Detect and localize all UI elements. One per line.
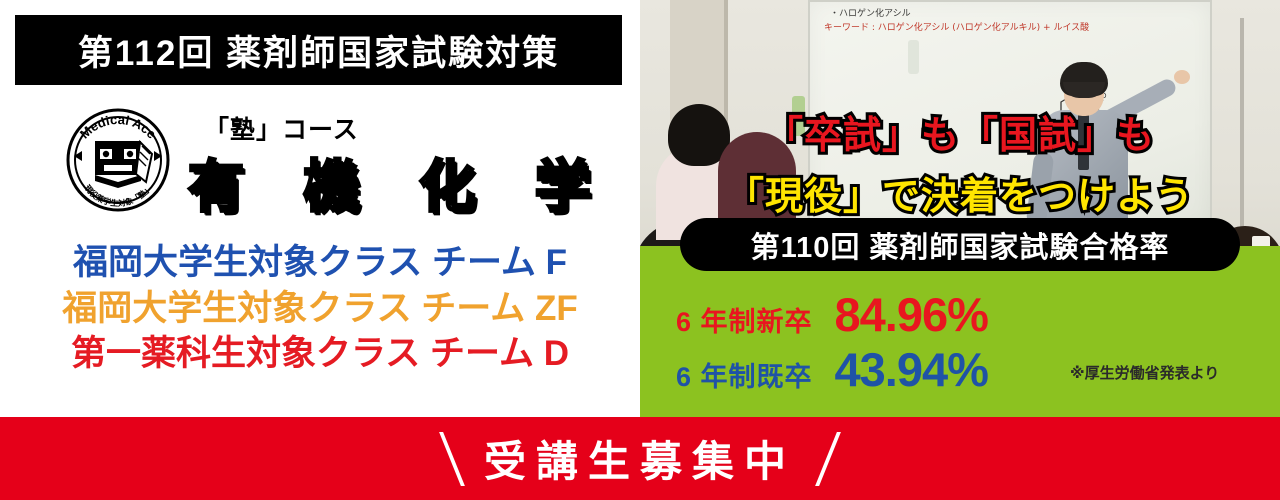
stat-value-past-graduates: 43.94% bbox=[835, 342, 988, 397]
instructor-hair bbox=[1060, 62, 1108, 96]
water-bottle-2 bbox=[908, 40, 919, 74]
source-footnote: ※厚生労働省発表より bbox=[1070, 362, 1219, 383]
class-item-team-f: 福岡大学生対象クラス チーム F bbox=[0, 240, 640, 286]
stat-value-new-graduates: 84.96% bbox=[835, 287, 988, 342]
slash-right-icon bbox=[815, 432, 841, 486]
pass-rate-title: 第110回 薬剤師国家試験合格率 bbox=[751, 224, 1170, 266]
stat-label-past-graduates: 6 年制既卒 bbox=[676, 355, 813, 394]
course-title-bar: 第112回 薬剤師国家試験対策 bbox=[15, 15, 622, 85]
stat-label-new-graduates: 6 年制新卒 bbox=[676, 300, 813, 339]
page-title: 第112回 薬剤師国家試験対策 bbox=[78, 25, 559, 76]
pass-rate-title-badge: 第110回 薬剤師国家試験合格率 bbox=[680, 218, 1240, 271]
promo-banner: 第112回 薬剤師国家試験対策 Medical Ace 現役薬学生対象「塾」 bbox=[0, 0, 1280, 500]
headline-line-1: 「卒試」も「国試」も bbox=[640, 104, 1280, 159]
whiteboard-note-top: ・ハロゲン化アシル bbox=[830, 6, 911, 19]
whiteboard-note-keyword: キーワード : ハロゲン化アシル (ハロゲン化アルキル) + ルイス酸 bbox=[824, 20, 1089, 33]
stat-row-new-graduates: 6 年制新卒 84.96% bbox=[676, 287, 988, 342]
instructor-hand bbox=[1174, 70, 1190, 84]
recruitment-text: 受講生募集中 bbox=[484, 428, 796, 489]
course-kind-label: 「塾」コース bbox=[204, 110, 359, 146]
class-list: 福岡大学生対象クラス チーム F 福岡大学生対象クラス チーム ZF 第一薬科生… bbox=[0, 240, 640, 377]
left-panel: 第112回 薬剤師国家試験対策 Medical Ace 現役薬学生対象「塾」 bbox=[0, 0, 640, 417]
recruitment-banner[interactable]: 受講生募集中 bbox=[0, 417, 1280, 500]
slash-left-icon bbox=[439, 432, 465, 486]
class-item-team-d: 第一薬科生対象クラス チーム D bbox=[0, 331, 640, 377]
headline-block: 「卒試」も「国試」も 「現役」で決着をつけよう bbox=[640, 104, 1280, 220]
svg-text:Medical Ace: Medical Ace bbox=[77, 112, 160, 142]
stat-row-past-graduates: 6 年制既卒 43.94% bbox=[676, 342, 988, 397]
medical-ace-logo: Medical Ace 現役薬学生対象「塾」 bbox=[62, 108, 174, 212]
headline-line-2: 「現役」で決着をつけよう bbox=[640, 165, 1280, 220]
course-subject-title: 有 機 化 学 bbox=[188, 142, 613, 223]
class-item-team-zf: 福岡大学生対象クラス チーム ZF bbox=[0, 286, 640, 332]
